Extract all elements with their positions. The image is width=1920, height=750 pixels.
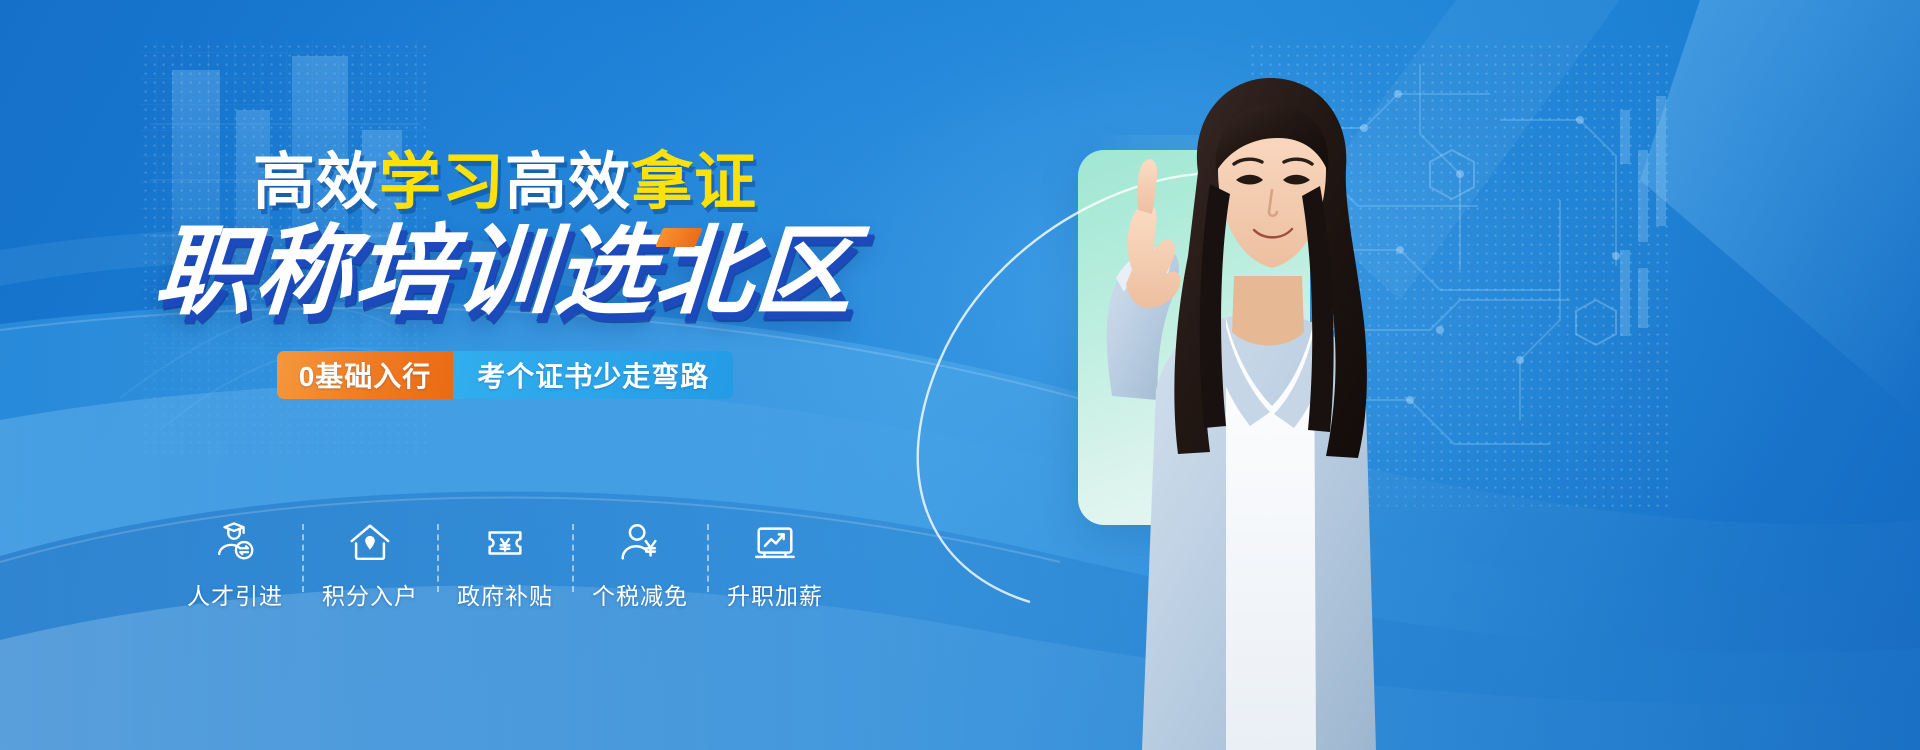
promo-banner: 2 39 1011: [0, 0, 1920, 750]
feature-item-promotion-raise[interactable]: 升职加薪: [709, 520, 842, 611]
house-location-pin-icon: [347, 520, 393, 566]
chart-growth-screen-icon: [752, 520, 798, 566]
presenter-photo: [1020, 60, 1420, 750]
tagline-badge-group: 0基础入行 考个证书少走弯路: [0, 351, 1010, 399]
subhead-part-1: 高效: [253, 148, 379, 217]
feature-list: 人才引进 积分入户 政府补贴: [0, 520, 1010, 611]
copy-block: 高效学习高效拿证 职称培训选北区 0基础入行 考个证书少走弯路: [0, 0, 1010, 750]
feature-item-points-residency[interactable]: 积分入户: [304, 520, 437, 611]
feature-label: 升职加薪: [727, 577, 823, 611]
orange-accent-mark: [655, 228, 703, 247]
badge-zero-basis[interactable]: 0基础入行: [277, 351, 454, 399]
feature-label: 积分入户: [322, 577, 418, 611]
feature-item-tax-reduction[interactable]: 个税减免: [574, 520, 707, 611]
sub-headline: 高效学习高效拿证: [0, 152, 1010, 214]
subhead-part-2-highlight: 学习: [379, 148, 505, 217]
feature-label: 个税减免: [592, 577, 688, 611]
ticket-yuan-icon: [482, 520, 528, 566]
feature-label: 政府补贴: [457, 577, 553, 611]
feature-item-talent-introduction[interactable]: 人才引进: [169, 520, 302, 611]
person-yuan-icon: [617, 520, 663, 566]
feature-item-government-subsidy[interactable]: 政府补贴: [439, 520, 572, 611]
subhead-part-4-highlight: 拿证: [631, 148, 757, 217]
badge-certificate-shortcut[interactable]: 考个证书少走弯路: [453, 351, 733, 399]
subhead-part-3: 高效: [505, 148, 631, 217]
graduate-person-icon: [212, 520, 258, 566]
feature-label: 人才引进: [187, 577, 283, 611]
main-headline: 职称培训选北区: [0, 222, 1013, 320]
